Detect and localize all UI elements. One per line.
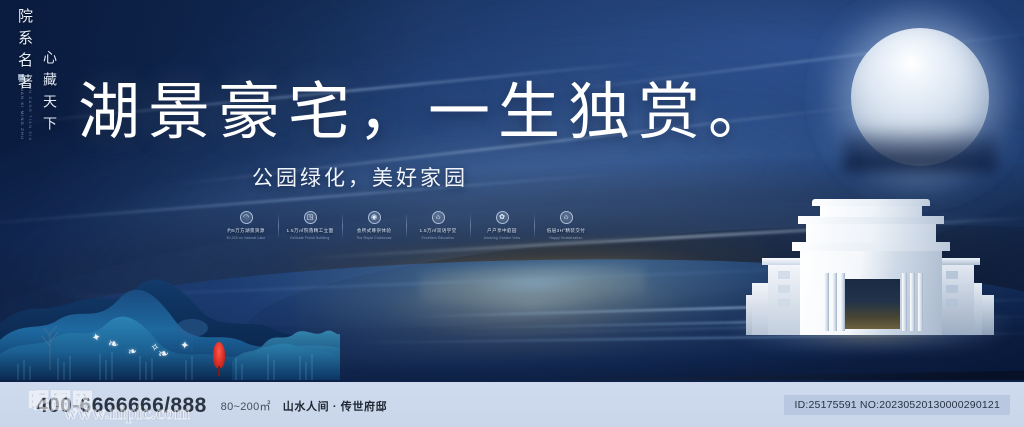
home-icon: ⌂: [560, 211, 573, 224]
bottom-info-bar: 400-6666666/888 80~200㎡ 山水人间 · 传世府邸 ID:2…: [0, 380, 1024, 427]
red-tree: [213, 342, 225, 368]
vertical-pinyin-1: YUAN XI MING ZHU: [20, 84, 25, 140]
feature-label-cn: 约5万方湖景资源: [227, 228, 265, 234]
page-subtitle: 公园绿化，美好家园: [252, 168, 468, 189]
building-window-4: [946, 271, 958, 279]
villa-icon: ◳: [304, 211, 317, 224]
building-column-4: [902, 273, 907, 331]
vertical-title: 院系名著: [14, 8, 35, 96]
crane-icon-3: ❧: [127, 346, 138, 358]
building-cornice-1: [792, 242, 950, 251]
vertical-seal-mark: [18, 74, 24, 80]
project-slogan: 山水人间 · 传世府邸: [283, 398, 387, 414]
unit-area-range: 80~200㎡: [221, 398, 271, 414]
feature-label-cn: 1.5万㎡双语学堂: [419, 228, 456, 234]
building-window-1: [778, 271, 790, 279]
feature-label-en: Excellent Education: [422, 236, 455, 240]
ink-wash-mountains: ✦ ❧ ❧ ✧ ❧ ✦: [0, 270, 340, 380]
feature-badge[interactable]: ⌂ 1.5万㎡双语学堂 Excellent Education: [406, 211, 470, 240]
poster-canvas: ✦ ❧ ❧ ✧ ❧ ✦ 院系名著 心藏天下 YUAN XI MING ZHU X…: [0, 0, 1024, 427]
feature-label-cn: 低层3H°精装交付: [547, 228, 585, 234]
moon: [851, 28, 989, 166]
feature-label-en: Delicate Finish Building: [290, 236, 329, 240]
building-window-6: [946, 299, 958, 307]
building-tier-2: [806, 223, 936, 243]
feature-label-en: The Royal Clubhouse: [356, 236, 391, 240]
building-tier-3: [820, 205, 922, 217]
feature-badge[interactable]: ◠ 约5万方湖景资源 50,000 m² Natural Lake: [214, 211, 278, 240]
building-roof-cap: [812, 199, 930, 206]
feature-label-en: 50,000 m² Natural Lake: [227, 236, 266, 240]
vertical-pinyin-2: XIN CANG TIAN XIA: [28, 84, 33, 141]
building-column-3: [840, 273, 845, 331]
mountain-svg: [0, 270, 340, 380]
feature-badge[interactable]: ✿ 户户享中庭园 Amazing Garden View: [470, 211, 534, 240]
building-cornice-2: [798, 216, 944, 224]
building-column-6: [918, 273, 923, 331]
park-icon: ✿: [496, 211, 509, 224]
building-column-5: [910, 273, 915, 331]
feature-badge[interactable]: ⌂ 低层3H°精装交付 Happy Hommization: [534, 211, 598, 240]
feature-label-cn: 户户享中庭园: [487, 228, 517, 234]
page-title: 湖景豪宅，一生独赏。: [78, 82, 778, 144]
bottom-bar-content: 400-6666666/888 80~200㎡ 山水人间 · 传世府邸: [36, 382, 387, 427]
status-badge: ID:25175591 NO:20230520130000290121: [784, 395, 1010, 415]
crane-icon-6: ✦: [180, 341, 190, 353]
feature-label-en: Amazing Garden View: [484, 236, 520, 240]
sales-phone-number: 400-6666666/888: [36, 394, 207, 418]
clubhouse-icon: ◉: [368, 211, 381, 224]
crane-icon-2: ❧: [107, 336, 120, 350]
classical-building-illustration: [746, 195, 996, 335]
lake-icon: ◠: [240, 211, 253, 224]
school-icon: ⌂: [432, 211, 445, 224]
feature-label-cn: 会所式尊崇体验: [357, 228, 392, 234]
building-column-2: [832, 273, 837, 331]
vertical-subtitle: 心藏天下: [38, 50, 58, 138]
building-window-3: [778, 299, 790, 307]
feature-label-en: Happy Hommization: [550, 236, 583, 240]
crane-icon-5: ❧: [157, 346, 169, 360]
feature-badge[interactable]: ◉ 会所式尊崇体验 The Royal Clubhouse: [342, 211, 406, 240]
feature-badge[interactable]: ◳ 1.5万㎡院落精工立面 Delicate Finish Building: [278, 211, 342, 240]
building-column-1: [824, 273, 829, 331]
building-window-2: [778, 285, 790, 293]
feature-badge-row: ◠ 约5万方湖景资源 50,000 m² Natural Lake ◳ 1.5万…: [214, 211, 598, 240]
building-entrance: [842, 279, 900, 329]
building-window-5: [946, 285, 958, 293]
feature-label-cn: 1.5万㎡院落精工立面: [287, 228, 334, 234]
moon-lower-fade: [843, 126, 997, 172]
